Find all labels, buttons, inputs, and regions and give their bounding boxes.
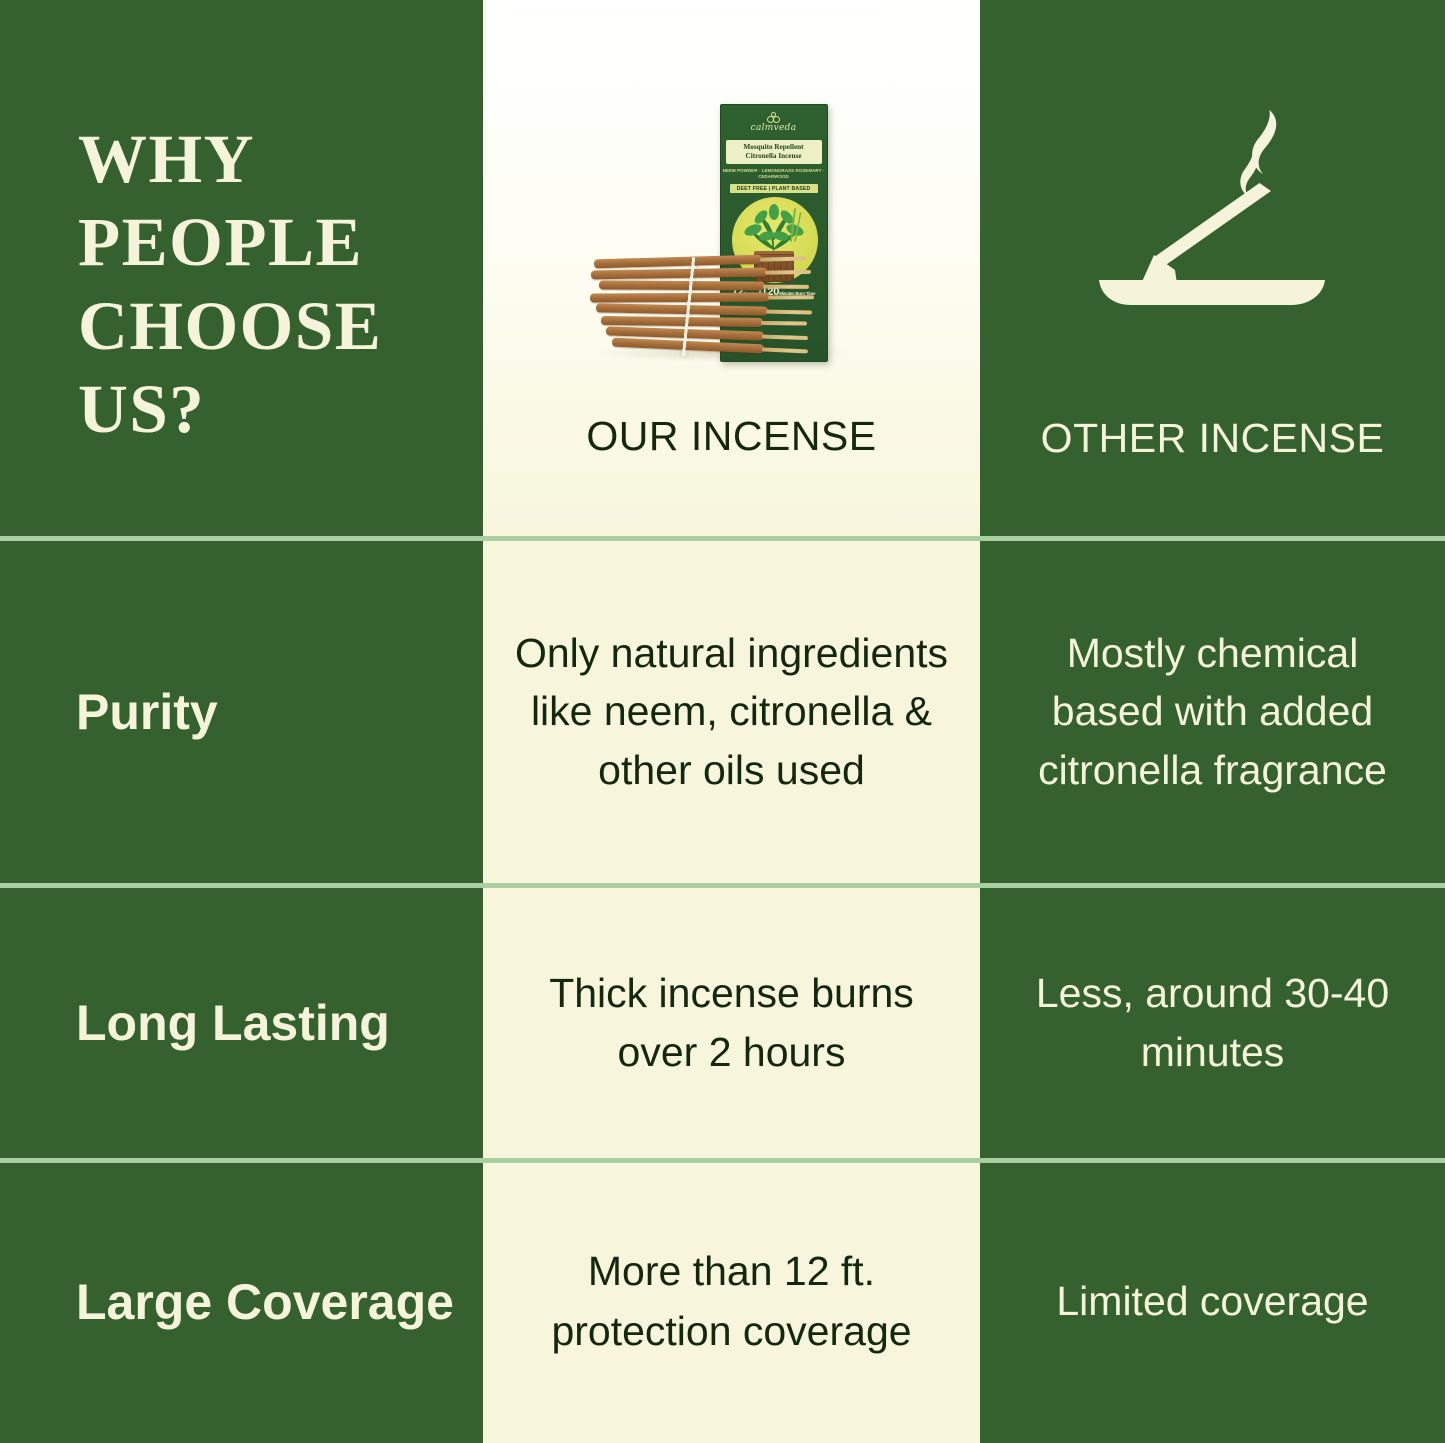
row-label-purity: Purity bbox=[0, 538, 483, 885]
potted-plant-icon bbox=[737, 204, 811, 258]
comparison-table: WHY PEOPLE CHOOSE US? calmveda Mosquito … bbox=[0, 0, 1445, 1443]
row-long-lasting-our-value: Thick incense burns over 2 hours bbox=[483, 964, 980, 1080]
our-incense-label: OUR INCENSE bbox=[483, 416, 980, 457]
row-large-coverage-other-cell: Limited coverage bbox=[980, 1160, 1445, 1443]
row-large-coverage-our-cell: More than 12 ft. protection coverage bbox=[483, 1160, 980, 1443]
row-purity-our-value: Only natural ingredients like neem, citr… bbox=[483, 624, 980, 799]
calmveda-logo-icon bbox=[767, 112, 781, 122]
row-purity-our-cell: Only natural ingredients like neem, citr… bbox=[483, 538, 980, 885]
other-incense-header-cell: OTHER INCENSE bbox=[980, 0, 1445, 538]
row-label-text: Long Lasting bbox=[76, 990, 390, 1056]
our-incense-header-cell: calmveda Mosquito Repellent Citronella I… bbox=[483, 0, 980, 538]
package-brand: calmveda bbox=[721, 123, 827, 133]
page-title: WHY PEOPLE CHOOSE US? bbox=[78, 118, 443, 452]
incense-burner-icon bbox=[1093, 104, 1333, 319]
package-title: Mosquito Repellent Citronella Incense bbox=[726, 140, 822, 164]
incense-sticks-bundle bbox=[590, 255, 850, 360]
row-purity-other-cell: Mostly chemical based with added citrone… bbox=[980, 538, 1445, 885]
headline-cell: WHY PEOPLE CHOOSE US? bbox=[0, 0, 483, 538]
row-large-coverage-our-value: More than 12 ft. protection coverage bbox=[483, 1242, 980, 1362]
row-purity-other-value: Mostly chemical based with added citrone… bbox=[980, 624, 1445, 799]
package-claim: DEET FREE | PLANT BASED bbox=[730, 184, 818, 193]
row-label-text: Purity bbox=[76, 679, 218, 745]
row-long-lasting-our-cell: Thick incense burns over 2 hours bbox=[483, 885, 980, 1160]
row-label-text: Large Coverage bbox=[76, 1269, 454, 1335]
row-long-lasting-other-value: Less, around 30-40 minutes bbox=[980, 964, 1445, 1080]
row-large-coverage-other-value: Limited coverage bbox=[1030, 1272, 1394, 1332]
row-label-large-coverage: Large Coverage bbox=[0, 1160, 483, 1443]
package-ingredients: NEEM POWDER · LEMONGRASS ROSEMARY · CEDA… bbox=[721, 168, 827, 180]
row-label-long-lasting: Long Lasting bbox=[0, 885, 483, 1160]
other-incense-label: OTHER INCENSE bbox=[980, 418, 1445, 459]
row-long-lasting-other-cell: Less, around 30-40 minutes bbox=[980, 885, 1445, 1160]
product-photo: calmveda Mosquito Repellent Citronella I… bbox=[582, 92, 882, 392]
